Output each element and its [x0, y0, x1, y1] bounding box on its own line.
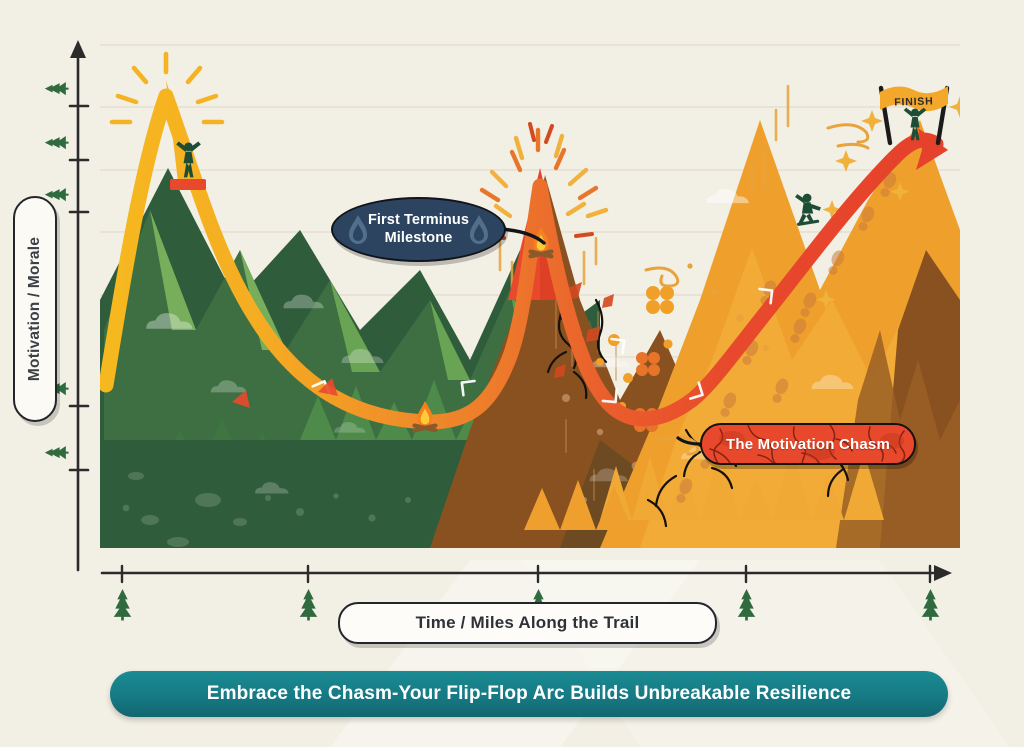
footer-banner[interactable]: Embrace the Chasm-Your Flip-Flop Arc Bui… [110, 671, 948, 717]
callout-chasm-text: The Motivation Chasm [726, 436, 890, 453]
callout-first-terminus-milestone[interactable]: First Terminus Milestone [331, 197, 506, 262]
flame-icon [466, 213, 492, 247]
y-axis-label: Motivation / Morale [13, 196, 57, 422]
callout-chasm-pill: The Motivation Chasm [700, 423, 916, 465]
x-axis-label-text: Time / Miles Along the Trail [416, 613, 640, 633]
footer-banner-text: Embrace the Chasm-Your Flip-Flop Arc Bui… [207, 683, 851, 705]
x-axis-label: Time / Miles Along the Trail [338, 602, 717, 644]
callout-milestone-oval: First Terminus Milestone [331, 197, 506, 262]
callout-milestone-line2: Milestone [385, 230, 453, 248]
callout-milestone-line1: First Terminus [368, 212, 469, 230]
finish-flag-text: FINISH [894, 95, 934, 108]
y-axis-label-text: Motivation / Morale [26, 237, 44, 381]
callout-motivation-chasm[interactable]: The Motivation Chasm [700, 423, 916, 465]
